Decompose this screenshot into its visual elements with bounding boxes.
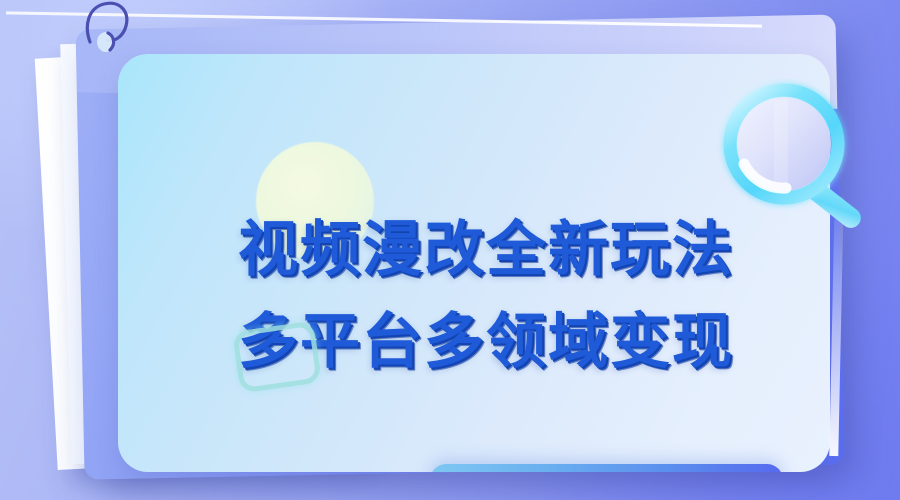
poster-canvas: 视频漫改全新玩法 多平台多领域变现 单日轻松变现300 ＋ — [0, 0, 900, 500]
rounded-rect-ornament-icon — [232, 321, 322, 394]
subtitle-pill: 单日轻松变现300 ＋ — [430, 464, 783, 472]
headline-line-2: 多平台多领域变现 — [238, 296, 830, 388]
moon-circle-icon — [256, 142, 374, 260]
inner-panel: 视频漫改全新玩法 多平台多领域变现 单日轻松变现300 ＋ — [118, 54, 830, 472]
headline-line-1: 视频漫改全新玩法 — [238, 204, 830, 296]
headline-block: 视频漫改全新玩法 多平台多领域变现 — [238, 204, 830, 388]
